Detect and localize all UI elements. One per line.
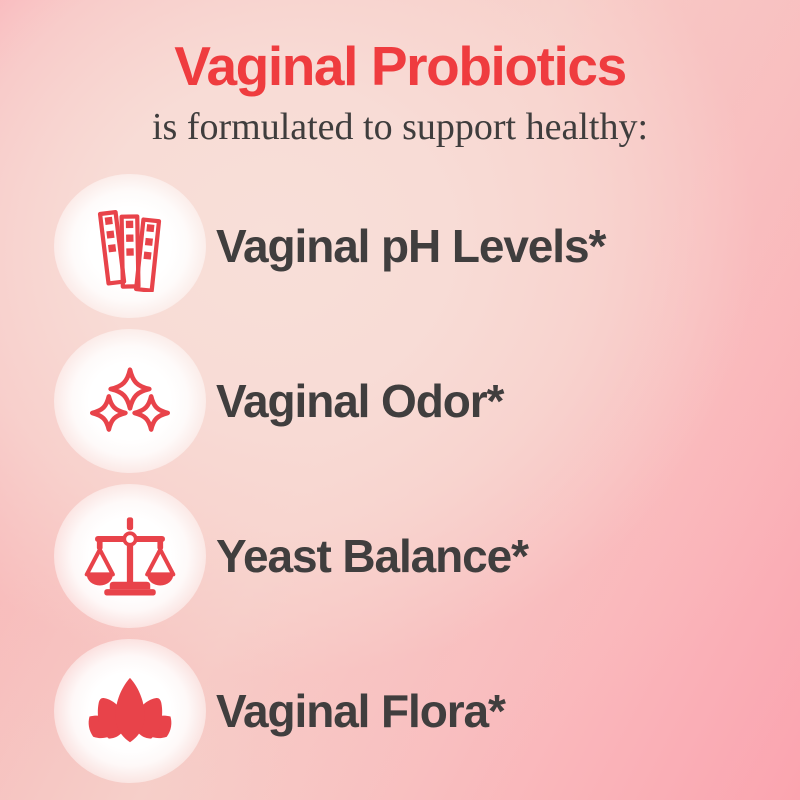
page-subtitle: is formulated to support healthy: <box>0 107 800 149</box>
list-item: Vaginal pH Levels* <box>0 168 800 323</box>
list-item: Vaginal Odor* <box>0 323 800 478</box>
benefit-label: Vaginal Odor* <box>216 374 503 428</box>
icon-container <box>62 643 198 779</box>
lotus-flower-icon <box>84 665 176 757</box>
header: Vaginal Probiotics is formulated to supp… <box>0 0 800 149</box>
ph-test-strips-icon <box>84 200 176 292</box>
list-item: Yeast Balance* <box>0 478 800 633</box>
list-item: Vaginal Flora* <box>0 633 800 788</box>
benefit-label: Vaginal pH Levels* <box>216 219 605 273</box>
page-title: Vaginal Probiotics <box>0 38 800 96</box>
benefit-label: Yeast Balance* <box>216 529 528 583</box>
benefits-list: Vaginal pH Levels* Vaginal Odor* <box>0 168 800 788</box>
benefit-label: Vaginal Flora* <box>216 684 505 738</box>
icon-container <box>62 333 198 469</box>
icon-container <box>62 178 198 314</box>
icon-container <box>62 488 198 624</box>
balance-scale-icon <box>84 510 176 602</box>
sparkles-icon <box>84 355 176 447</box>
promo-graphic: Vaginal Probiotics is formulated to supp… <box>0 0 800 800</box>
